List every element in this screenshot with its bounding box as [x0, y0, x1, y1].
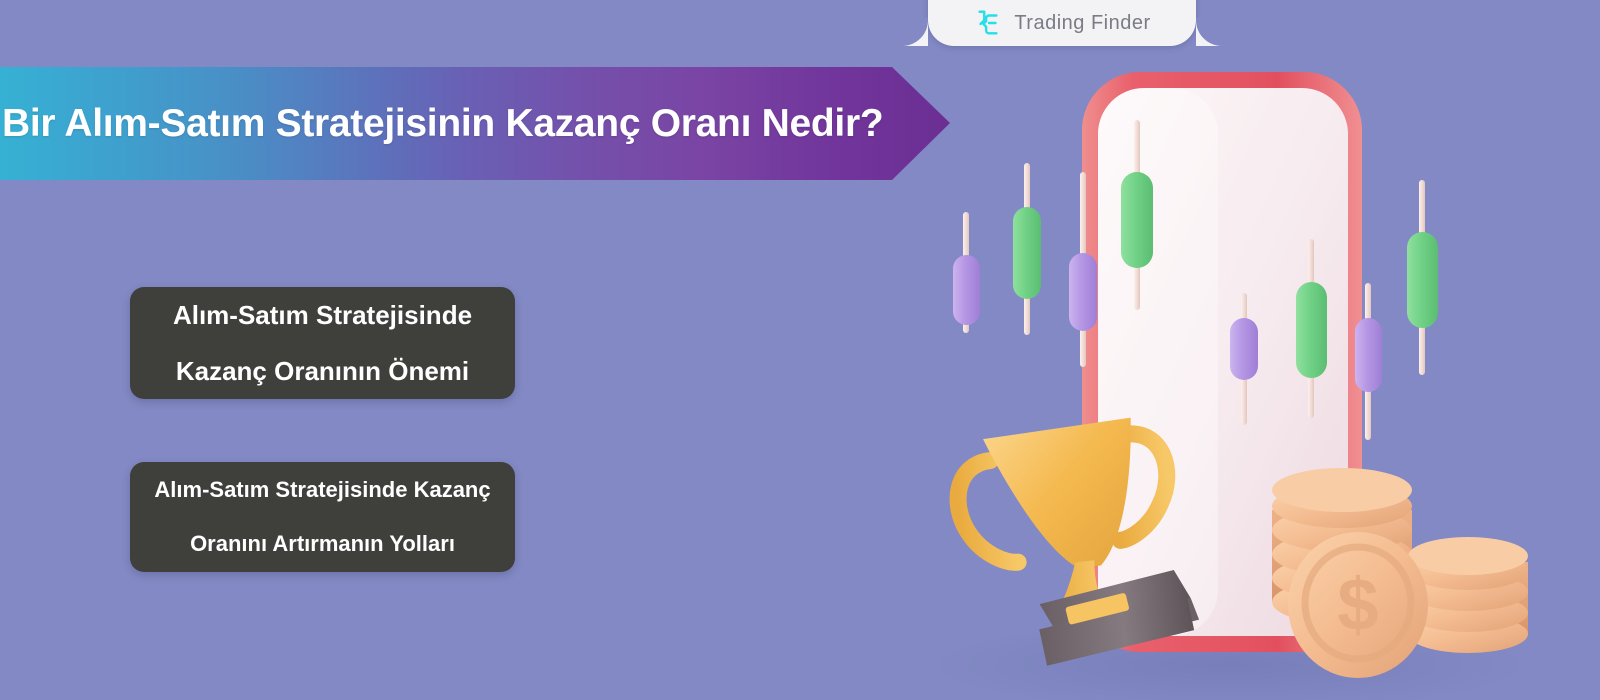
coin-front-dollar: $ [1288, 532, 1428, 678]
callout-2-line-1: Alım-Satım Stratejisinde Kazanç [154, 463, 490, 517]
candle-2-bullish [1013, 163, 1041, 335]
candle-8-bullish [1407, 180, 1438, 375]
page-title: Bir Alım-Satım Stratejisinin Kazanç Oran… [0, 102, 883, 146]
callout-2-line-2: Oranını Artırmanın Yolları [190, 517, 455, 571]
callout-box-importance[interactable]: Alım-Satım Stratejisinde Kazanç Oranının… [130, 287, 515, 399]
trading-finder-logo-icon [973, 8, 1003, 38]
callout-box-ways-to-increase[interactable]: Alım-Satım Stratejisinde Kazanç Oranını … [130, 462, 515, 572]
brand-tab[interactable]: Trading Finder [928, 0, 1196, 46]
callout-1-line-1: Alım-Satım Stratejisinde [173, 287, 472, 343]
brand-name: Trading Finder [1014, 12, 1150, 35]
dollar-sign-icon: $ [1337, 563, 1378, 646]
brand-logo-row: Trading Finder [973, 8, 1150, 38]
headline-banner: Bir Alım-Satım Stratejisinin Kazanç Oran… [0, 67, 950, 180]
candle-1-bearish [953, 212, 980, 333]
banner-stage: $ Trading Finder Bir Alım-Satım Strateji… [0, 0, 1600, 700]
callout-1-line-2: Kazanç Oranının Önemi [176, 343, 469, 399]
